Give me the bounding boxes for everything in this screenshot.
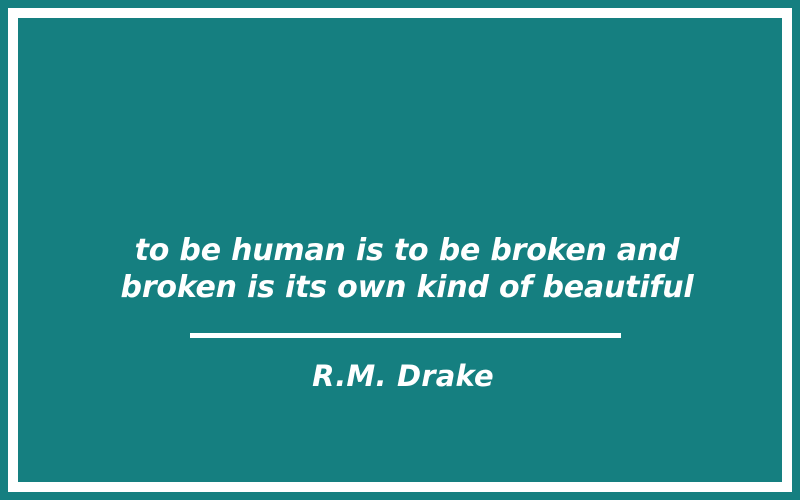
quote-text-block: to be human is to be broken and broken i… bbox=[18, 232, 782, 306]
attribution-container: R.M. Drake bbox=[18, 359, 782, 393]
quote-line-1: to be human is to be broken and bbox=[32, 232, 782, 269]
quote-line-2: broken is its own kind of beautiful bbox=[32, 269, 782, 306]
divider-rule bbox=[190, 333, 621, 338]
divider-container bbox=[18, 333, 782, 338]
quote-card: to be human is to be broken and broken i… bbox=[0, 0, 800, 500]
attribution-author: R.M. Drake bbox=[312, 359, 494, 393]
card-inner-panel: to be human is to be broken and broken i… bbox=[18, 18, 782, 482]
quote-content-stack: to be human is to be broken and broken i… bbox=[18, 232, 782, 393]
